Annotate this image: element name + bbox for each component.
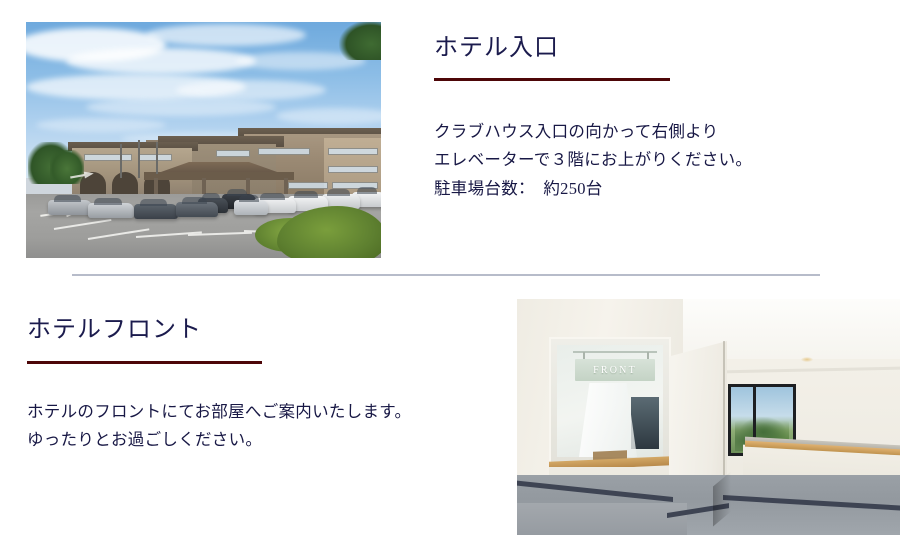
window bbox=[84, 154, 132, 161]
section-title-underline bbox=[434, 78, 670, 81]
window bbox=[216, 150, 250, 157]
window bbox=[328, 148, 378, 155]
window bbox=[288, 182, 328, 189]
parked-car bbox=[48, 200, 92, 215]
porte-cochere-fascia bbox=[144, 172, 294, 180]
window bbox=[138, 154, 172, 161]
parked-car bbox=[234, 200, 268, 215]
section-body-hotel-entrance: クラブハウス入口の向かって右側より エレベーターで３階にお上がりください。 駐車… bbox=[434, 118, 752, 203]
front-desk-sign: FRONT bbox=[575, 359, 655, 381]
tree bbox=[339, 22, 381, 60]
parked-car bbox=[134, 204, 178, 219]
hotel-front-desk-photo: FRONT bbox=[517, 299, 900, 535]
cloud bbox=[146, 24, 306, 46]
tree bbox=[50, 150, 84, 184]
cloud bbox=[66, 48, 256, 74]
cloud bbox=[36, 118, 166, 132]
inner-window bbox=[631, 397, 659, 449]
flag-pole bbox=[138, 140, 140, 178]
cloud bbox=[176, 80, 326, 100]
section-title-hotel-entrance: ホテル入口 bbox=[434, 36, 559, 60]
cloud bbox=[86, 98, 276, 116]
carpet-floor-left bbox=[517, 503, 687, 535]
parked-car bbox=[88, 203, 134, 218]
section-title-underline bbox=[27, 361, 262, 364]
window bbox=[258, 148, 310, 155]
hotel-exterior-photo bbox=[26, 22, 381, 258]
section-title-hotel-front: ホテルフロント bbox=[27, 318, 202, 342]
page-root: ホテル入口 クラブハウス入口の向かって右側より エレベーターで３階にお上がりくだ… bbox=[0, 0, 900, 559]
flag-pole bbox=[120, 144, 122, 178]
parked-car bbox=[176, 202, 218, 217]
sign-rod bbox=[573, 351, 657, 353]
section-divider bbox=[72, 274, 820, 276]
section-body-hotel-front: ホテルのフロントにてお部屋へご案内いたします。 ゆったりとお過ごしください。 bbox=[27, 398, 411, 455]
window bbox=[328, 166, 378, 173]
ceiling-downlight-icon bbox=[801, 357, 813, 362]
flag-pole bbox=[156, 142, 158, 174]
